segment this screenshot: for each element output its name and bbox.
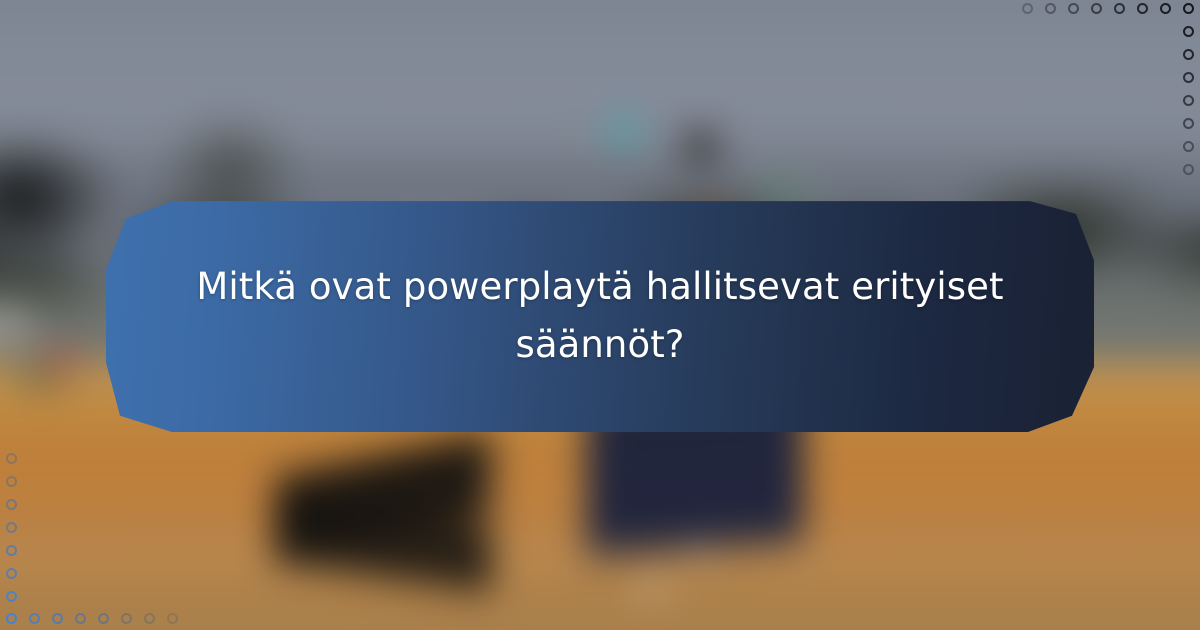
- dot-top-7-icon: [1160, 3, 1171, 14]
- question-card: Mitkä ovat powerplaytä hallitsevat erity…: [100, 200, 1100, 432]
- dot-left-2-icon: [6, 476, 17, 487]
- dot-top-1-icon: [1022, 3, 1033, 14]
- dot-top-3-icon: [1068, 3, 1079, 14]
- dot-right-4-icon: [1183, 95, 1194, 106]
- dot-decoration-left-column: [6, 453, 17, 602]
- dot-bottom-4-icon: [75, 613, 86, 624]
- dot-right-3-icon: [1183, 72, 1194, 83]
- dot-bottom-7-icon: [144, 613, 155, 624]
- dot-left-7-icon: [6, 591, 17, 602]
- dot-bottom-2-icon: [29, 613, 40, 624]
- dot-left-3-icon: [6, 499, 17, 510]
- dot-bottom-5-icon: [98, 613, 109, 624]
- dot-left-4-icon: [6, 522, 17, 533]
- dot-bottom-6-icon: [121, 613, 132, 624]
- dot-top-6-icon: [1137, 3, 1148, 14]
- dot-right-2-icon: [1183, 49, 1194, 60]
- dot-decoration-bottom-row: [6, 613, 178, 624]
- question-text: Mitkä ovat powerplaytä hallitsevat erity…: [100, 200, 1100, 432]
- dot-top-2-icon: [1045, 3, 1056, 14]
- dot-left-1-icon: [6, 453, 17, 464]
- dot-left-5-icon: [6, 545, 17, 556]
- dot-right-5-icon: [1183, 118, 1194, 129]
- dot-top-5-icon: [1114, 3, 1125, 14]
- dot-bottom-8-icon: [167, 613, 178, 624]
- dot-bottom-3-icon: [52, 613, 63, 624]
- dot-bottom-1-icon: [6, 613, 17, 624]
- dot-top-4-icon: [1091, 3, 1102, 14]
- social-card-canvas: Mitkä ovat powerplaytä hallitsevat erity…: [0, 0, 1200, 630]
- dot-decoration-top-row: [1022, 3, 1194, 14]
- dot-right-1-icon: [1183, 26, 1194, 37]
- dot-top-8-icon: [1183, 3, 1194, 14]
- dot-right-7-icon: [1183, 164, 1194, 175]
- dot-left-6-icon: [6, 568, 17, 579]
- dot-right-6-icon: [1183, 141, 1194, 152]
- dot-decoration-right-column: [1183, 26, 1194, 175]
